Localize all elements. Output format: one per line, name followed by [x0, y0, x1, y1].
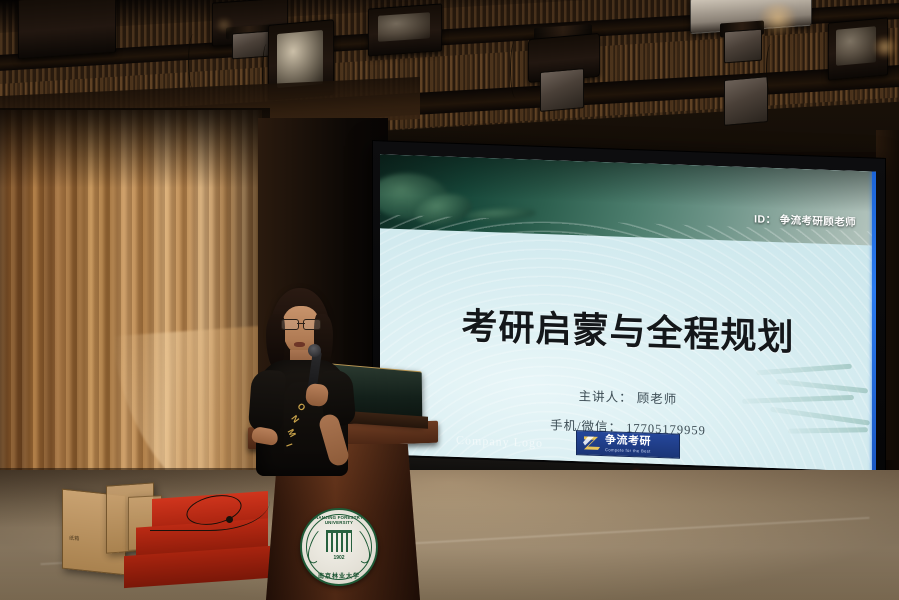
rig-cable-1 — [188, 34, 199, 90]
shirt-letter-4: M — [286, 427, 298, 438]
shirt-letter-3: N — [289, 413, 301, 424]
rig-cable-4 — [766, 44, 776, 94]
emblem-chinese-text: 南京林业大学 — [302, 571, 376, 580]
stage-light-8 — [724, 78, 768, 124]
stage-light-4 — [368, 6, 442, 54]
lamp-glow-2 — [872, 36, 898, 58]
slide-watermark: Company Logo — [456, 433, 543, 451]
presenter: T O N M I — [246, 288, 376, 518]
logo-z-mark — [582, 434, 602, 452]
eyeglasses — [280, 319, 322, 328]
lamp-glow-1 — [756, 4, 800, 34]
lamp-glow-3 — [214, 18, 234, 32]
stage-light-5 — [528, 26, 600, 80]
screen-display-area: ID： 争流考研顾老师 考研启蒙与全程规划 主讲人： 顾老师 手机/微信： 17… — [380, 154, 876, 471]
rig-cable-3 — [510, 40, 521, 98]
logo-name-cn: 争流考研 — [605, 435, 651, 448]
mouth — [294, 342, 305, 347]
screen-edge-artifact — [872, 171, 876, 471]
emblem-building-icon — [326, 530, 352, 552]
emblem-year: 1902 — [302, 555, 376, 561]
sleeve-left — [248, 369, 286, 433]
leaf-2 — [776, 379, 868, 394]
stage-photo: ID： 争流考研顾老师 考研启蒙与全程规划 主讲人： 顾老师 手机/微信： 17… — [0, 0, 899, 600]
lens-right — [303, 319, 321, 330]
leaf-1 — [756, 364, 852, 376]
box-label-1: 纸箱 — [69, 535, 80, 543]
shirt-letter-5: I — [284, 442, 294, 448]
lens-left — [281, 319, 299, 330]
curtain-top-shadow — [0, 108, 270, 188]
presentation-slide: ID： 争流考研顾老师 考研启蒙与全程规划 主讲人： 顾老师 手机/微信： 17… — [380, 154, 876, 471]
logo-tagline: Compete for the Best — [605, 448, 651, 454]
led-screen: ID： 争流考研顾老师 考研启蒙与全程规划 主讲人： 顾老师 手机/微信： 17… — [372, 140, 884, 506]
university-emblem: NANJING FORESTRY UNIVERSITY 1902 南京林业大学 — [300, 508, 378, 586]
shirt-letter-2: O — [296, 401, 308, 413]
logo-text-block: 争流考研 Compete for the Best — [605, 435, 651, 454]
stage-light-1 — [18, 0, 116, 56]
glasses-bridge — [297, 323, 305, 324]
brand-logo: 争流考研 Compete for the Best — [576, 430, 680, 459]
